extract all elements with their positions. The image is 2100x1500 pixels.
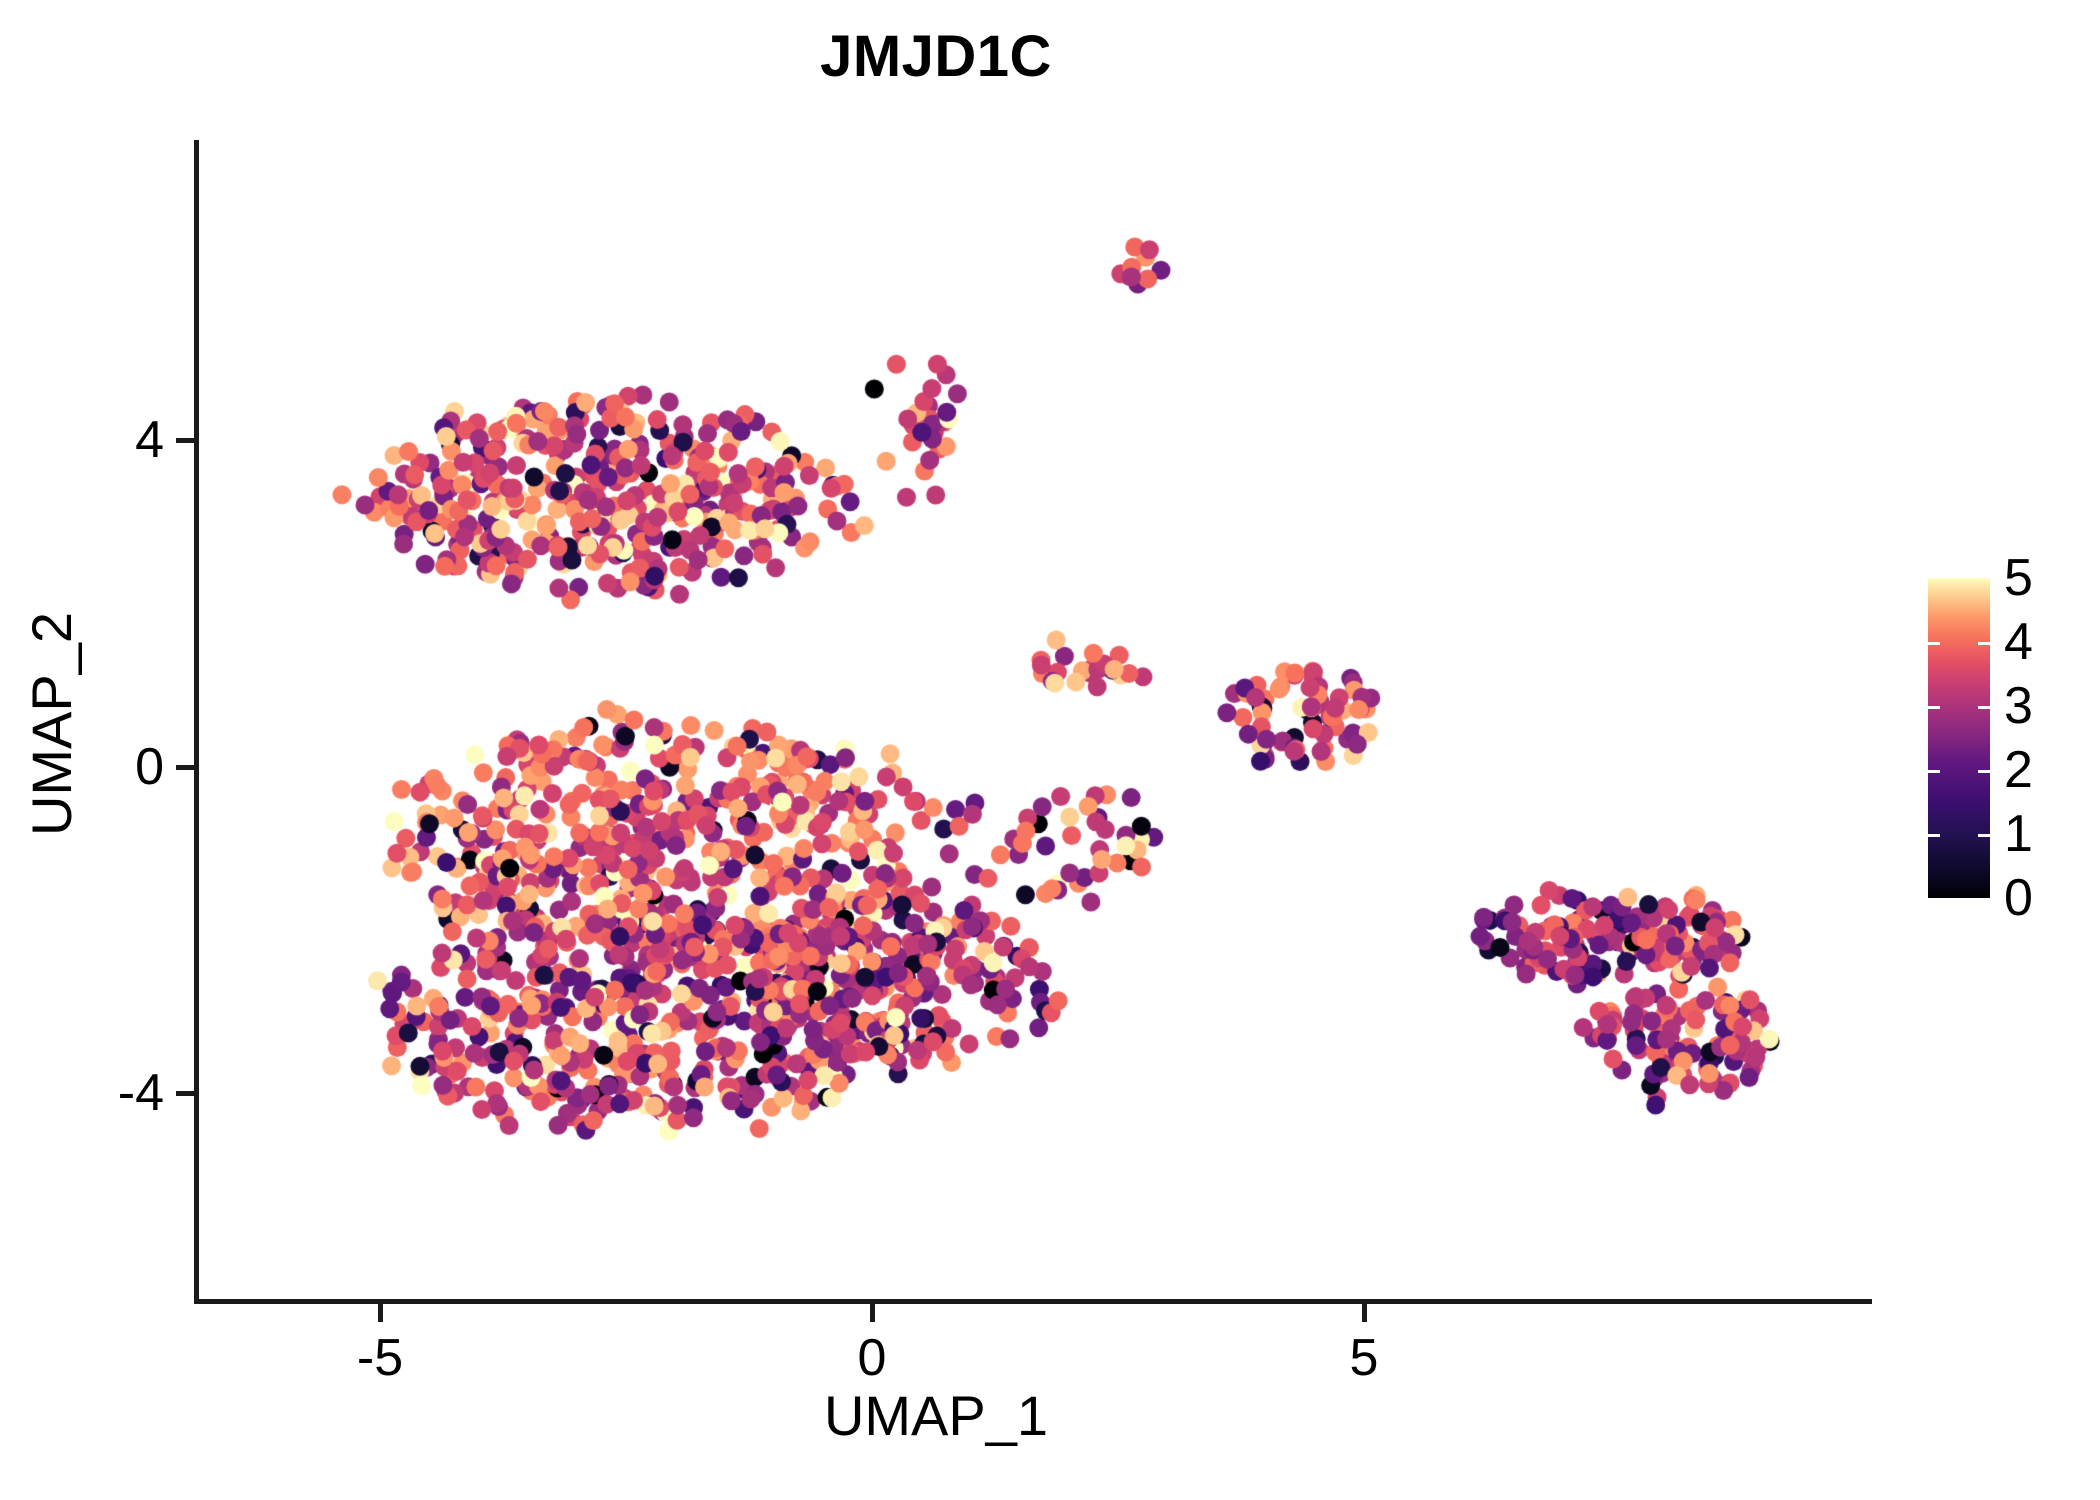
x-axis-title: UMAP_1 <box>0 1382 1872 1450</box>
y-axis-title: UMAP_2 <box>18 404 86 1044</box>
colorbar-label: 4 <box>2004 612 2033 672</box>
plot-panel <box>194 140 1872 1300</box>
x-tick-mark <box>870 1304 875 1322</box>
colorbar-tick-dash <box>1978 770 1990 773</box>
colorbar-tick-dash <box>1928 834 1940 837</box>
y-tick-label: -4 <box>0 1063 164 1123</box>
y-tick-mark <box>176 765 194 770</box>
colorbar-tick-dash <box>1978 834 1990 837</box>
colorbar-label: 2 <box>2004 740 2033 800</box>
colorbar-tick-dash <box>1928 706 1940 709</box>
colorbar-label: 3 <box>2004 676 2033 736</box>
x-tick-label: 0 <box>792 1328 952 1388</box>
x-tick-label: -5 <box>300 1328 460 1388</box>
x-tick-mark <box>1362 1304 1367 1322</box>
y-tick-mark <box>176 1091 194 1096</box>
page-title: JMJD1C <box>0 22 1872 92</box>
colorbar-tick-dash <box>1928 642 1940 645</box>
colorbar-label: 0 <box>2004 868 2033 928</box>
y-axis-line <box>194 140 199 1304</box>
x-tick-label: 5 <box>1284 1328 1444 1388</box>
colorbar-label: 1 <box>2004 804 2033 864</box>
colorbar-tick-dash <box>1978 706 1990 709</box>
colorbar-legend: 5 4 3 2 1 0 <box>1928 578 2078 898</box>
colorbar-tick-dash <box>1978 642 1990 645</box>
x-axis-line <box>194 1299 1872 1304</box>
colorbar-tick-dash <box>1928 770 1940 773</box>
colorbar-label: 5 <box>2004 548 2033 608</box>
x-tick-mark <box>378 1304 383 1322</box>
chart-root: JMJD1C -5 0 5 4 0 -4 UMAP_1 UMAP_2 5 4 3… <box>0 0 2100 1500</box>
y-tick-mark <box>176 438 194 443</box>
colorbar-gradient <box>1928 578 1990 898</box>
